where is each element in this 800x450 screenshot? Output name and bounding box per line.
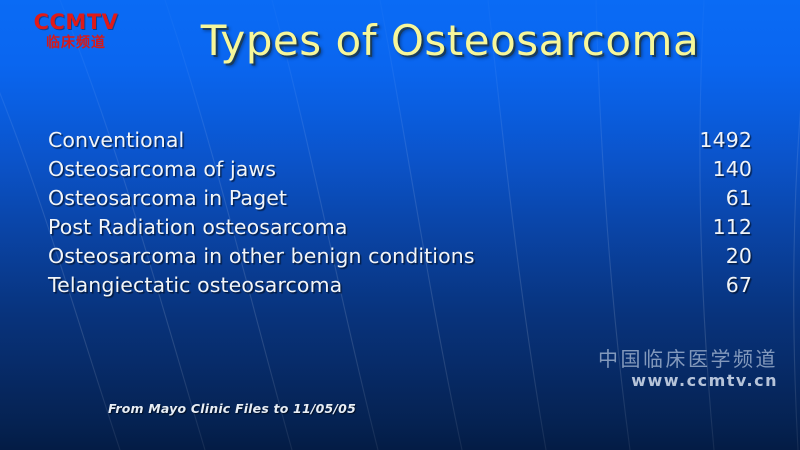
table-row: Osteosarcoma in Paget 61: [48, 186, 752, 215]
row-value: 20: [726, 244, 752, 268]
row-value: 67: [726, 273, 752, 297]
row-value: 61: [726, 186, 752, 210]
row-label: Post Radiation osteosarcoma: [48, 215, 348, 239]
slide-title: Types of Osteosarcoma: [140, 16, 760, 65]
row-label: Osteosarcoma of jaws: [48, 157, 276, 181]
ccmtv-logo: CCMTV 临床频道: [30, 12, 122, 50]
row-value: 112: [713, 215, 752, 239]
row-label: Telangiectatic osteosarcoma: [48, 273, 342, 297]
row-value: 140: [713, 157, 752, 181]
source-note: From Mayo Clinic Files to 11/05/05: [108, 401, 356, 416]
row-value: 1492: [699, 128, 752, 152]
row-label: Osteosarcoma in other benign conditions: [48, 244, 475, 268]
presentation-slide: CCMTV 临床频道 Types of Osteosarcoma Convent…: [0, 0, 800, 450]
row-label: Conventional: [48, 128, 184, 152]
logo-subtitle-chinese: 临床频道: [30, 36, 122, 50]
table-row: Osteosarcoma in other benign conditions …: [48, 244, 752, 273]
table-row: Telangiectatic osteosarcoma 67: [48, 273, 752, 302]
table-row: Osteosarcoma of jaws 140: [48, 157, 752, 186]
table-row: Conventional 1492: [48, 128, 752, 157]
osteosarcoma-types-list: Conventional 1492 Osteosarcoma of jaws 1…: [48, 128, 752, 302]
watermark-chinese-text: 中国临床医学频道: [598, 348, 778, 370]
channel-watermark: 中国临床医学频道 www.ccmtv.cn: [598, 348, 778, 390]
table-row: Post Radiation osteosarcoma 112: [48, 215, 752, 244]
row-label: Osteosarcoma in Paget: [48, 186, 287, 210]
watermark-url: www.ccmtv.cn: [598, 372, 778, 390]
logo-wordmark: CCMTV: [30, 12, 122, 33]
